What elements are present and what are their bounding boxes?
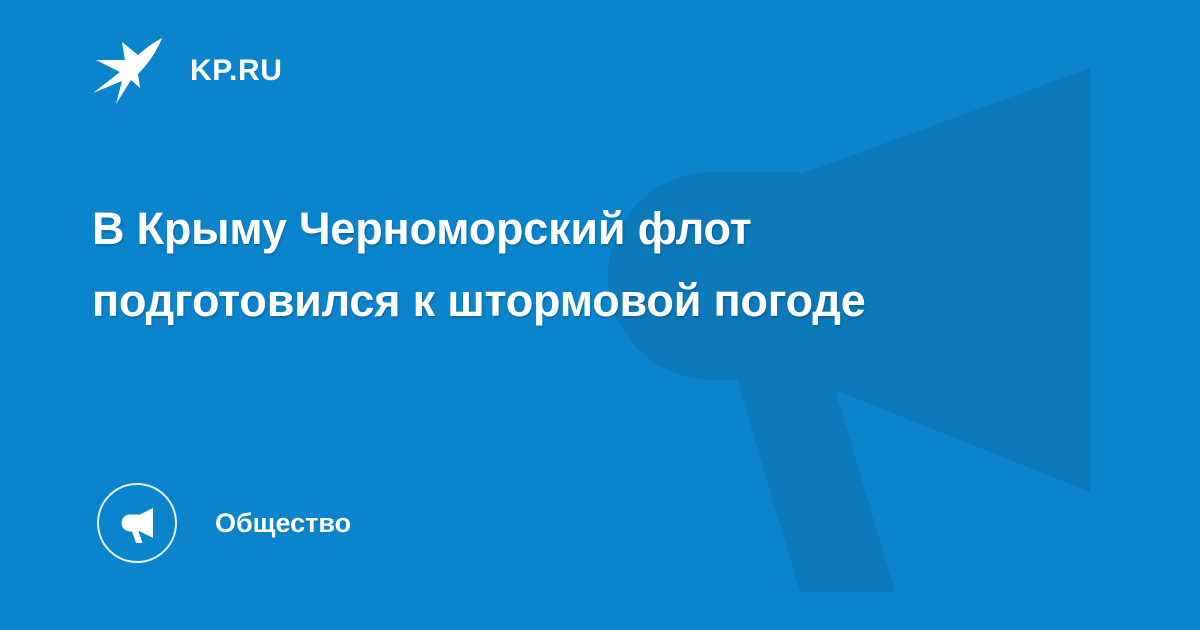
share-card: KP.RU В Крыму Черноморский флот подготов… (0, 0, 1200, 630)
brand-name: KP.RU (190, 56, 282, 86)
swallow-bird-icon (92, 36, 164, 106)
category-badge (97, 483, 177, 563)
page-title: В Крыму Черноморский флот подготовился к… (92, 193, 972, 337)
category-tag[interactable]: Общество (97, 483, 351, 563)
brand-header[interactable]: KP.RU (92, 36, 282, 106)
megaphone-icon (115, 501, 159, 545)
category-label: Общество (215, 510, 351, 537)
